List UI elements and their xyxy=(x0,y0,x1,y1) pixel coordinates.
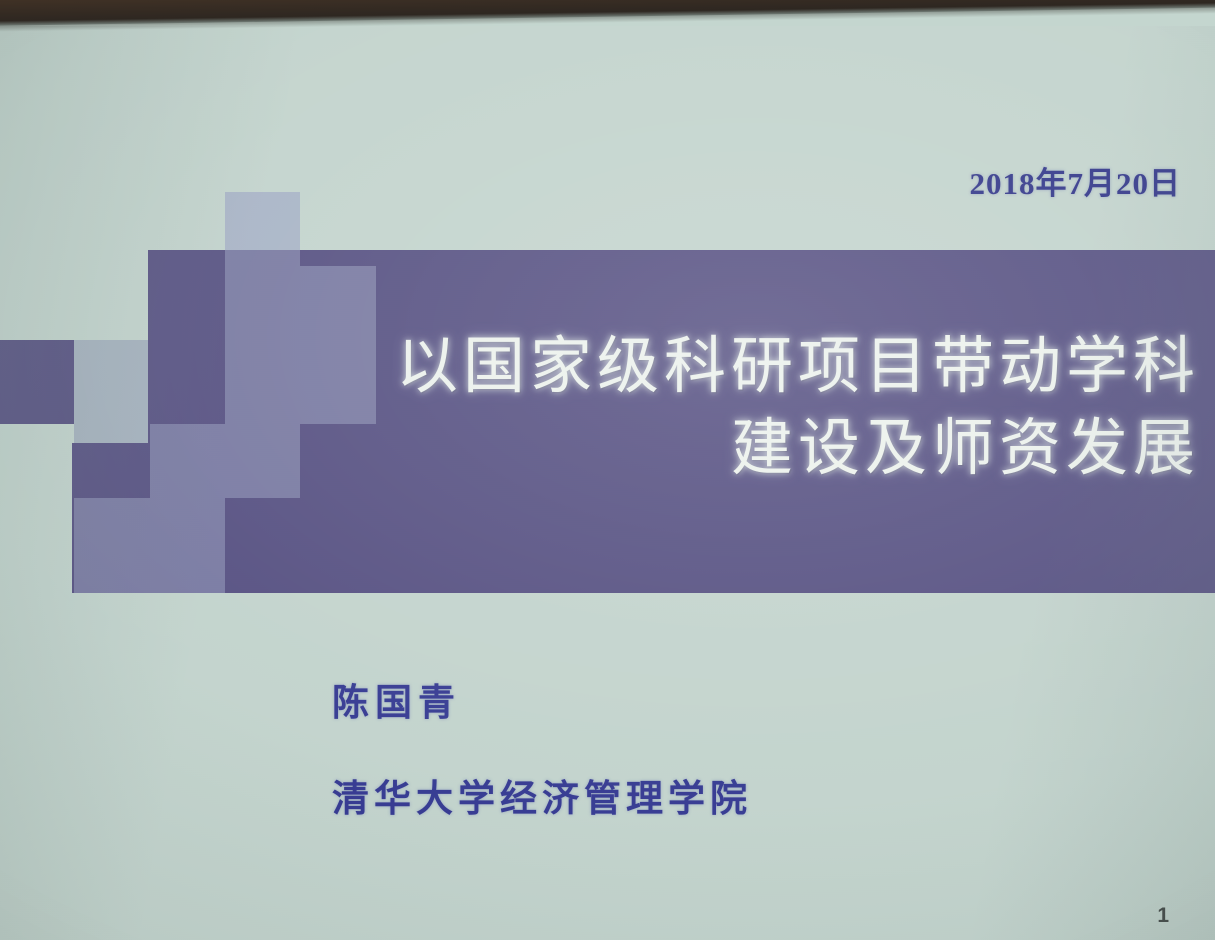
slide-date: 2018年7月20日 xyxy=(970,158,1182,203)
projected-slide-photo: 2018年7月20日 以国家级科研项目带动学科 建设及师资发展 陈国青 清华大学… xyxy=(0,0,1215,940)
title-line-1: 以国家级科研项目带动学科 xyxy=(0,326,1200,408)
slide-title: 以国家级科研项目带动学科 建设及师资发展 xyxy=(0,326,1200,490)
presentation-slide: 2018年7月20日 以国家级科研项目带动学科 建设及师资发展 陈国青 清华大学… xyxy=(0,26,1215,940)
mosaic-overlay-5 xyxy=(74,498,225,593)
title-line-2: 建设及师资发展 xyxy=(0,408,1200,490)
author-name: 陈国青 xyxy=(332,672,461,726)
slide-page-number: 1 xyxy=(1157,904,1169,928)
author-affiliation: 清华大学经济管理学院 xyxy=(332,768,752,822)
mosaic-overlay-1 xyxy=(225,192,300,266)
ceiling-wall-strip xyxy=(0,0,1215,26)
